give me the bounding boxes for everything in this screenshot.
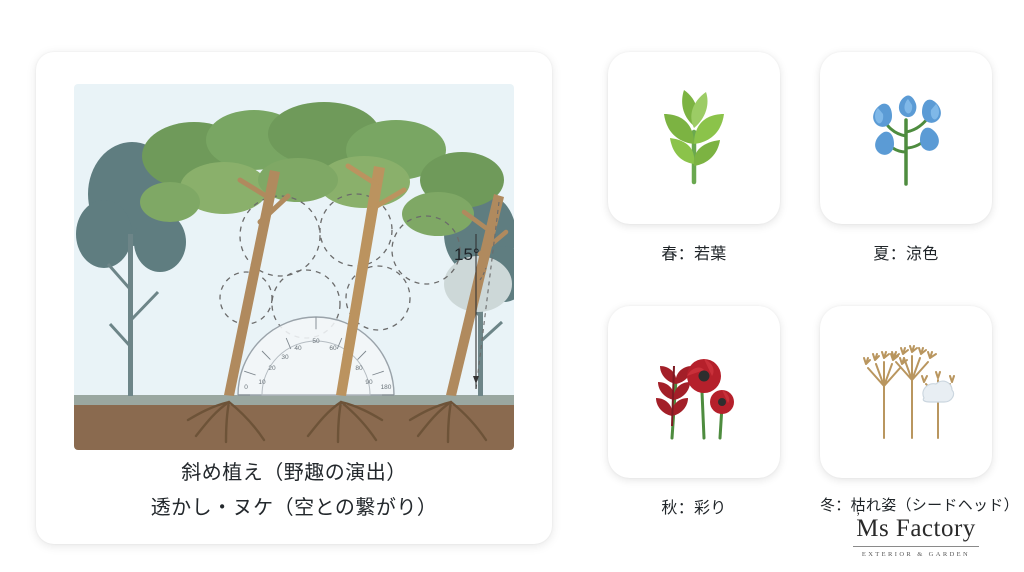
svg-text:80: 80 bbox=[355, 365, 363, 372]
svg-text:20: 20 bbox=[268, 365, 276, 372]
planting-diagram-card: 10 20 30 40 50 60 70 80 90 0 180 bbox=[36, 52, 552, 544]
slide-root: 10 20 30 40 50 60 70 80 90 0 180 bbox=[0, 0, 1024, 572]
caption-line-2: 透かし・ヌケ（空との繋がり） bbox=[36, 491, 552, 526]
logo-letter-s: s bbox=[879, 515, 889, 542]
anemone-bloom-small bbox=[710, 390, 734, 414]
season-label-summer: 夏：涼色 bbox=[820, 240, 992, 264]
angle-label: 15° bbox=[454, 245, 480, 264]
bluebell-flower-icon bbox=[854, 86, 958, 190]
seed-head-icon bbox=[854, 340, 958, 444]
planting-illustration: 10 20 30 40 50 60 70 80 90 0 180 bbox=[74, 84, 514, 450]
season-tile-grid: 春：若葉 bbox=[608, 52, 998, 522]
svg-text:30: 30 bbox=[281, 354, 289, 361]
svg-text:90: 90 bbox=[365, 379, 373, 386]
season-label-winter: 冬：枯れ姿（シードヘッド） bbox=[820, 494, 992, 515]
season-cell-winter: 冬：枯れ姿（シードヘッド） bbox=[820, 306, 992, 515]
logo-divider bbox=[853, 546, 979, 547]
planting-illustration-svg: 10 20 30 40 50 60 70 80 90 0 180 bbox=[74, 84, 514, 450]
season-tile-summer[interactable] bbox=[820, 52, 992, 224]
caption-block: 斜め植え（野趣の演出） 透かし・ヌケ（空との繋がり） bbox=[36, 456, 552, 526]
season-tile-winter[interactable] bbox=[820, 306, 992, 478]
season-cell-autumn: 秋：彩り bbox=[608, 306, 780, 518]
logo-subtitle: EXTERIOR & GARDEN bbox=[836, 551, 996, 558]
season-cell-spring: 春：若葉 bbox=[608, 52, 780, 264]
season-tile-autumn[interactable] bbox=[608, 306, 780, 478]
season-tile-spring[interactable] bbox=[608, 52, 780, 224]
season-label-spring: 春：若葉 bbox=[608, 240, 780, 264]
season-cell-summer: 夏：涼色 bbox=[820, 52, 992, 264]
brand-logo: M’s Factory EXTERIOR & GARDEN bbox=[836, 516, 996, 558]
season-label-autumn: 秋：彩り bbox=[608, 494, 780, 518]
svg-text:10: 10 bbox=[258, 379, 266, 386]
anemone-bloom-large bbox=[687, 359, 721, 393]
caption-line-1: 斜め植え（野趣の演出） bbox=[36, 456, 552, 491]
leaf-sprig-icon bbox=[642, 86, 746, 190]
svg-text:180: 180 bbox=[381, 384, 392, 391]
red-anemone-icon bbox=[642, 340, 746, 444]
svg-text:40: 40 bbox=[294, 345, 302, 352]
svg-text:50: 50 bbox=[312, 338, 320, 345]
svg-text:60: 60 bbox=[329, 345, 337, 352]
logo-wordmark: M’s Factory bbox=[836, 516, 996, 541]
svg-text:0: 0 bbox=[244, 384, 248, 391]
logo-apostrophe: ’ bbox=[856, 510, 861, 523]
logo-word-factory: Factory bbox=[896, 515, 976, 542]
snow-cap bbox=[923, 381, 954, 402]
